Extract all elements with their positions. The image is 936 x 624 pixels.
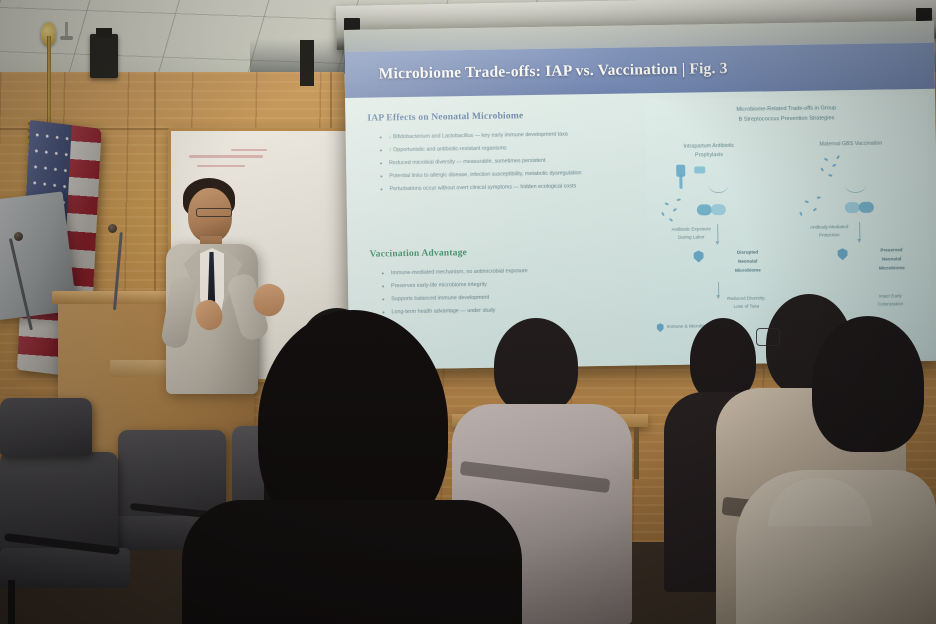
figure-outcome-vaccine-line2: Neonatal (850, 256, 934, 264)
vial-icon (694, 166, 705, 173)
bacteria-icon (677, 198, 681, 201)
antibody-icon (836, 155, 840, 159)
figure-outcome-iap-line3: Microbiome (706, 267, 790, 275)
bullet-text: Potential links to allergic disease, inf… (389, 170, 581, 181)
slide-title-bar: Microbiome Trade-offs: IAP vs. Vaccinati… (344, 43, 935, 98)
bacteria-icon (817, 196, 821, 199)
slide-bullet: Potential links to allergic disease, inf… (380, 169, 642, 181)
figure-outcome-vaccine-line3: Microbiome (850, 265, 934, 273)
bullet-text: Preserves early-life microbiome integrit… (391, 281, 487, 291)
slide-bullet: Immune-mediated mechanism, no antimicrob… (382, 265, 644, 277)
bacteria-icon (669, 218, 673, 222)
bullet-dot (380, 136, 382, 138)
bullet-text: ↓ Bifidobacterium and Lactobacillus — ke… (389, 130, 568, 141)
slide-bullet: Reduced microbial diversity — measurable… (380, 156, 642, 168)
slide-bullet: Perturbations occur without overt clinic… (380, 182, 642, 194)
figure-connector-curve (708, 176, 728, 193)
syringe-icon (679, 175, 682, 189)
figure-result-vaccine-line2: Colonization (848, 301, 932, 309)
bullet-text: Immune-mediated mechanism, no antimicrob… (391, 267, 528, 277)
figure-result-iap-line2: Loss of Taxa (704, 303, 788, 311)
chair-leg (8, 580, 15, 624)
bullet-text: ↑ Opportunistic and antibiotic-resistant… (389, 145, 507, 155)
cell-icon (859, 202, 874, 213)
slide-bullet-list-vaccination: Immune-mediated mechanism, no antimicrob… (382, 265, 645, 322)
bullet-text: Long-term health advantage — under study (391, 307, 495, 317)
figure-mechanism-iap-line1: Antibiotic Exposure (649, 226, 733, 234)
figure-result-iap-line1: Reduced Diversity, (704, 295, 788, 303)
table-leg (634, 427, 639, 479)
figure-outcome-vaccine-line1: Preserved (849, 247, 933, 255)
bullet-dot (382, 299, 384, 301)
bullet-text: Reduced microbial diversity — measurable… (389, 157, 545, 168)
slide-bullet: ↓ Bifidobacterium and Lactobacillus — ke… (380, 129, 642, 141)
antibody-icon (828, 174, 832, 177)
slide-bullet: ↑ Opportunistic and antibiotic-resistant… (380, 142, 642, 154)
antibody-icon (820, 167, 824, 171)
slide-bullet: Preserves early-life microbiome integrit… (382, 278, 644, 290)
shield-icon-preserved (837, 248, 847, 260)
bullet-dot (381, 189, 383, 191)
cell-icon (845, 202, 860, 213)
whiteboard-marking (231, 149, 267, 151)
microphone-head-right (108, 224, 117, 233)
bullet-dot (382, 272, 384, 274)
slide-title: Microbiome Trade-offs: IAP vs. Vaccinati… (379, 60, 728, 83)
bullet-text: Perturbations occur without overt clinic… (389, 183, 576, 194)
slide-section-heading-iap: IAP Effects on Neonatal Microbiome (367, 111, 523, 123)
bacteria-icon (813, 208, 817, 212)
cell-icon (697, 204, 712, 215)
figure-outcome-iap-line1: Disrupted (706, 249, 790, 257)
attendee-body (182, 500, 522, 624)
bullet-dot (380, 176, 382, 178)
figure-column-heading-iap-line2: Prophylaxis (656, 150, 762, 160)
eyeglasses-icon (756, 328, 780, 346)
shield-icon-disrupted (694, 250, 704, 262)
bacteria-icon (661, 212, 665, 216)
ceiling-speaker-box (90, 34, 118, 78)
bacteria-icon (799, 212, 802, 216)
wall-bracket (300, 40, 314, 86)
slide-section-heading-vaccination: Vaccination Advantage (369, 248, 467, 260)
figure-connector-curve (844, 176, 866, 193)
figure-column-heading-vaccine-line1: Maternal GBS Vaccination (798, 139, 904, 149)
bullet-dot (382, 312, 384, 314)
whiteboard-marking (197, 165, 245, 167)
ceiling-sprinkler-head (60, 36, 73, 40)
microphone-head-left (14, 232, 23, 241)
figure-outcome-iap-line2: Neonatal (706, 258, 790, 266)
ceiling-speaker-mount (96, 28, 112, 38)
figure-mechanism-iap-line2: During Labor (649, 234, 733, 242)
bullet-dot (380, 150, 382, 152)
whiteboard-marking (189, 155, 263, 158)
slide-bullet: Long-term health advantage — under study (382, 305, 644, 317)
projection-screen: Microbiome Trade-offs: IAP vs. Vaccinati… (344, 21, 936, 370)
attendee-head (812, 316, 924, 452)
lecture-room-photo: Microbiome Trade-offs: IAP vs. Vaccinati… (0, 0, 936, 624)
bullet-dot (382, 286, 384, 288)
down-arrow-icon (718, 282, 719, 296)
figure-result-vaccine-line1: Intact Early (848, 293, 932, 301)
antibody-icon (832, 163, 836, 167)
bullet-dot (380, 163, 382, 165)
bacteria-icon (805, 200, 809, 203)
shield-icon-footer (657, 323, 664, 332)
eyeglasses-icon (196, 208, 232, 217)
slide-bullet: Supports balanced immune development (382, 292, 644, 304)
slide-bullet-list-iap: ↓ Bifidobacterium and Lactobacillus — ke… (380, 129, 643, 199)
attendee-head (494, 318, 578, 414)
bacteria-icon (665, 202, 669, 205)
bacteria-icon (673, 208, 677, 212)
cell-icon (711, 204, 726, 215)
antibody-icon (824, 158, 828, 162)
chair-backrest (0, 398, 92, 456)
bullet-text: Supports balanced immune development (391, 294, 489, 304)
